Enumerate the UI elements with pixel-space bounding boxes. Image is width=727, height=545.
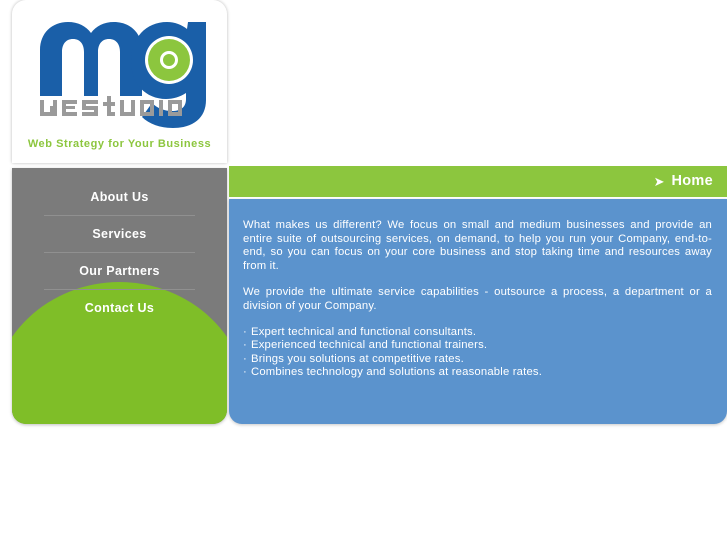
content-column: ➤ Home What makes us different? We focus…: [229, 166, 727, 424]
list-item: ·Experienced technical and functional tr…: [243, 339, 712, 352]
arrow-right-icon: ➤: [654, 175, 665, 188]
list-item-label: Experienced technical and functional tra…: [251, 339, 487, 351]
main-content-panel: What makes us different? We focus on sma…: [229, 199, 727, 424]
bullet-marker: ·: [243, 339, 251, 352]
list-item-label: Expert technical and functional consulta…: [251, 326, 476, 338]
page-header-bar: ➤ Home: [229, 166, 727, 197]
capabilities-paragraph: We provide the ultimate service capabili…: [243, 286, 712, 313]
sidebar-item-services[interactable]: Services: [12, 216, 227, 252]
brand-card: Web Strategy for Your Business: [12, 0, 227, 163]
page-title-group: ➤ Home: [654, 166, 713, 197]
mg-webstudio-logo: [30, 8, 220, 130]
list-item-label: Brings you solutions at competitive rate…: [251, 353, 464, 365]
bullet-marker: ·: [243, 326, 251, 339]
brand-tagline: Web Strategy for Your Business: [12, 138, 227, 150]
sidebar-nav-list: About Us Services Our Partners Contact U…: [12, 168, 227, 326]
page-title: Home: [672, 166, 714, 197]
intro-paragraph: What makes us different? We focus on sma…: [243, 219, 712, 273]
list-item: ·Brings you solutions at competitive rat…: [243, 353, 712, 366]
page-root: Web Strategy for Your Business About Us …: [0, 0, 727, 545]
sidebar-item-contact-us[interactable]: Contact Us: [12, 290, 227, 326]
sidebar: Web Strategy for Your Business About Us …: [12, 0, 227, 424]
sidebar-item-our-partners[interactable]: Our Partners: [12, 253, 227, 289]
sidebar-item-about-us[interactable]: About Us: [12, 179, 227, 215]
benefits-list: ·Expert technical and functional consult…: [243, 326, 712, 380]
bullet-marker: ·: [243, 366, 251, 379]
list-item: ·Combines technology and solutions at re…: [243, 366, 712, 379]
bullet-marker: ·: [243, 353, 251, 366]
list-item: ·Expert technical and functional consult…: [243, 326, 712, 339]
list-item-label: Combines technology and solutions at rea…: [251, 366, 542, 378]
sidebar-nav-panel: About Us Services Our Partners Contact U…: [12, 168, 227, 424]
